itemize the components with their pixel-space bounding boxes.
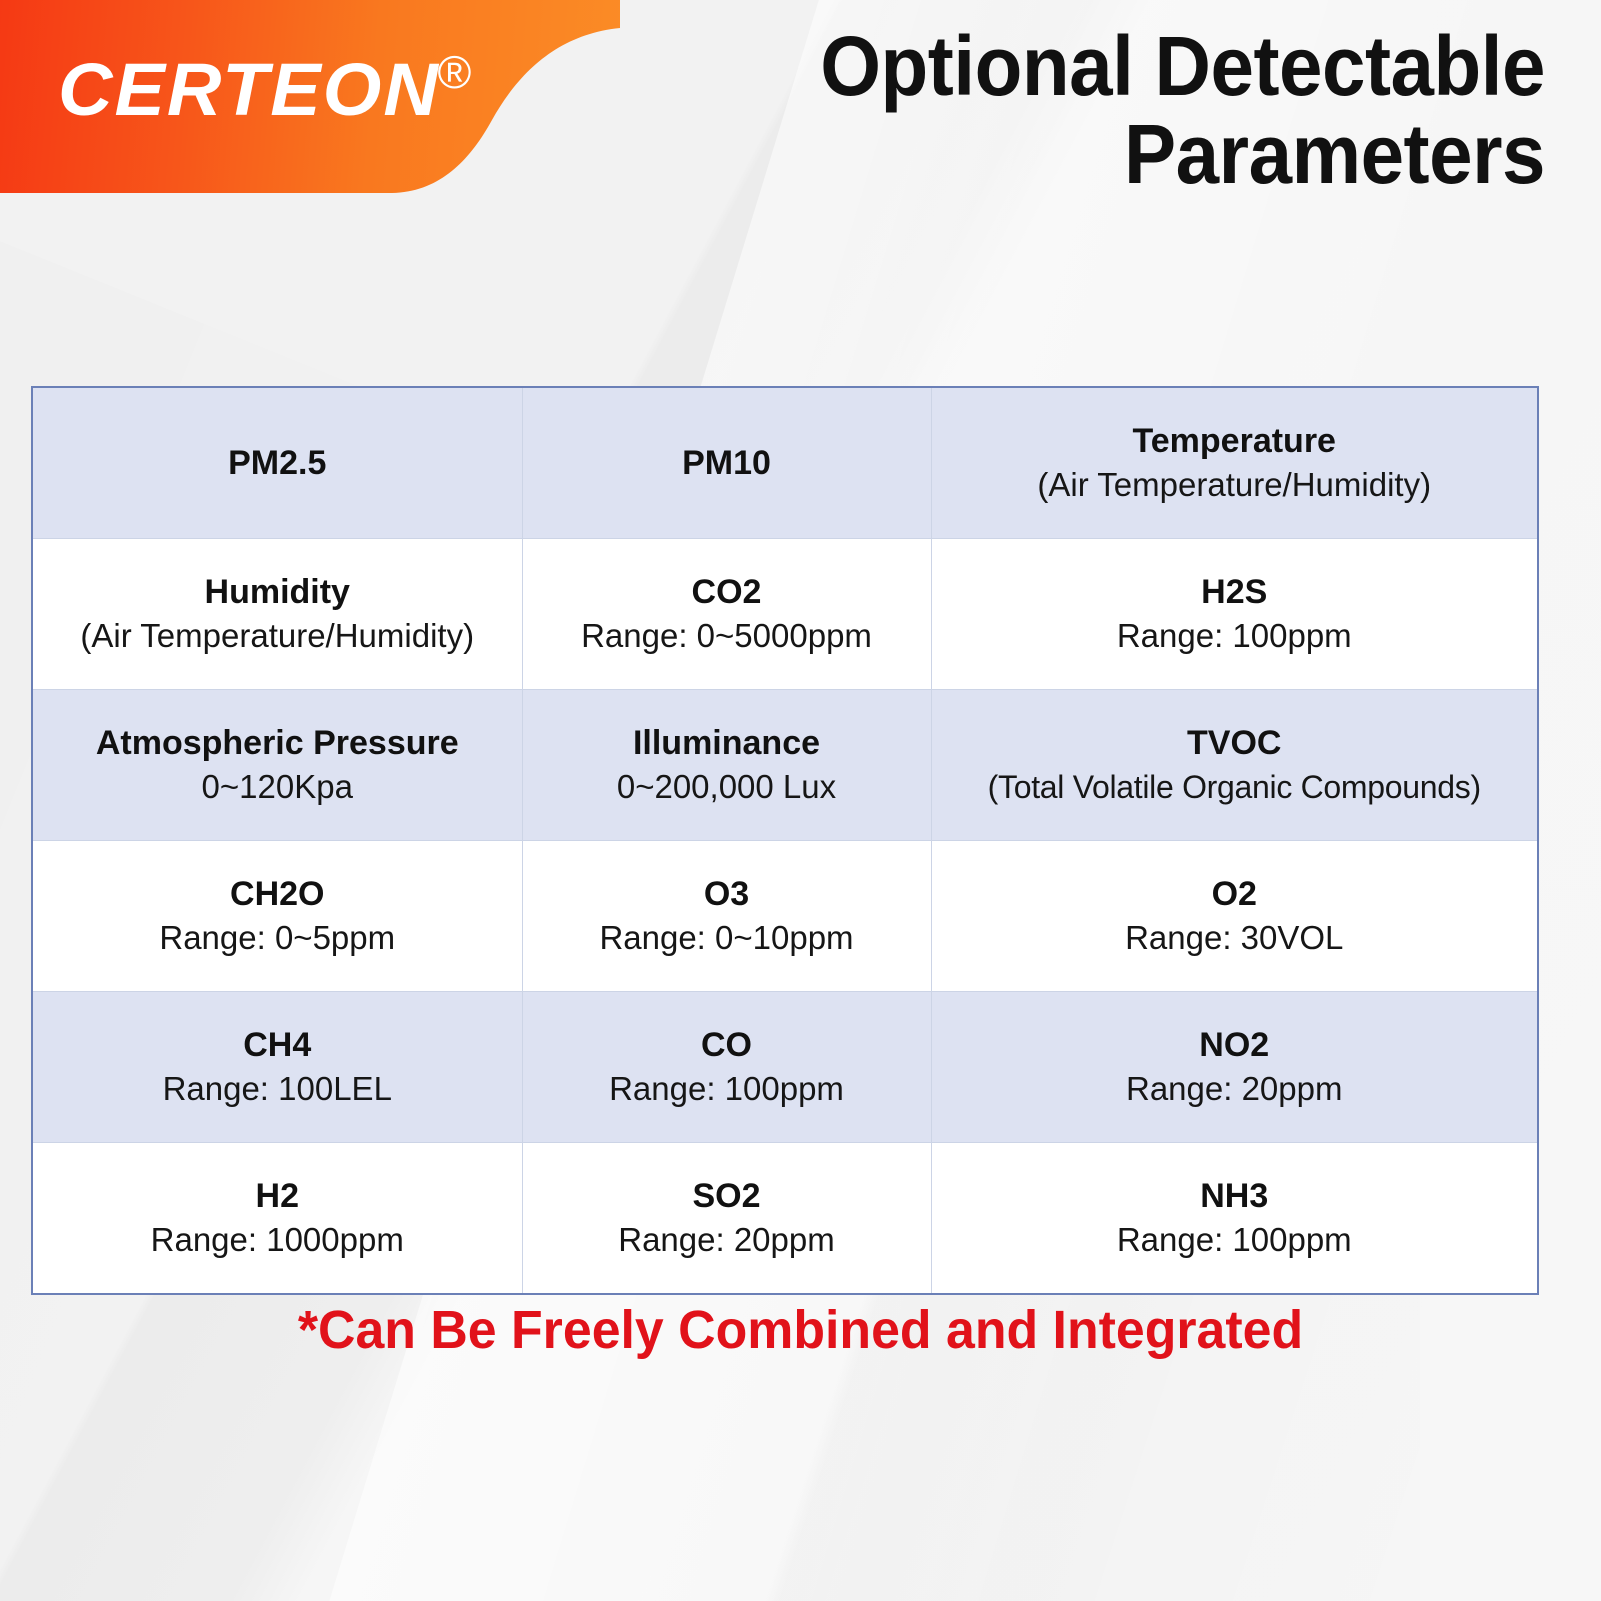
parameter-name: H2 (41, 1174, 514, 1218)
table-cell: Temperature (Air Temperature/Humidity) (931, 387, 1538, 539)
page-title-line-2: Parameters (615, 110, 1545, 198)
parameter-name: CO (531, 1023, 923, 1067)
page-title: Optional Detectable Parameters (545, 22, 1545, 198)
parameter-detail: Range: 100ppm (940, 614, 1530, 658)
parameter-detail: Range: 100ppm (531, 1067, 923, 1111)
parameter-detail: 0~120Kpa (41, 765, 514, 809)
table-cell: CO Range: 100ppm (522, 992, 931, 1143)
table-row: PM2.5 PM10 Temperature (Air Temperature/… (32, 387, 1538, 539)
parameter-detail: (Air Temperature/Humidity) (41, 614, 514, 658)
table-cell: NO2 Range: 20ppm (931, 992, 1538, 1143)
parameter-detail: Range: 20ppm (940, 1067, 1530, 1111)
brand-logo: CERTEON ® (58, 47, 471, 133)
parameter-detail: Range: 100ppm (940, 1218, 1530, 1262)
table-cell: H2 Range: 1000ppm (32, 1143, 522, 1295)
parameter-name: H2S (940, 570, 1530, 614)
parameter-detail: Range: 0~10ppm (531, 916, 923, 960)
detectable-parameters-table: PM2.5 PM10 Temperature (Air Temperature/… (31, 386, 1539, 1295)
parameter-name: CH2O (41, 872, 514, 916)
table-cell: Atmospheric Pressure 0~120Kpa (32, 690, 522, 841)
table-row: H2 Range: 1000ppm SO2 Range: 20ppm NH3 R… (32, 1143, 1538, 1295)
table-cell: TVOC (Total Volatile Organic Compounds) (931, 690, 1538, 841)
table-cell: O2 Range: 30VOL (931, 841, 1538, 992)
parameter-detail: Range: 30VOL (940, 916, 1530, 960)
parameter-name: O3 (531, 872, 923, 916)
parameter-name: SO2 (531, 1174, 923, 1218)
footnote-text: *Can Be Freely Combined and Integrated (32, 1300, 1569, 1360)
table-cell: Humidity (Air Temperature/Humidity) (32, 539, 522, 690)
parameter-detail: Range: 0~5ppm (41, 916, 514, 960)
parameter-name: Humidity (41, 570, 514, 614)
page-title-line-1: Optional Detectable (615, 22, 1545, 110)
parameter-name: Atmospheric Pressure (41, 721, 514, 765)
infographic-page: CERTEON ® Optional Detectable Parameters… (0, 0, 1601, 1601)
parameter-name: Temperature (940, 419, 1530, 463)
brand-logo-text: CERTEON (58, 47, 440, 133)
table-cell: CO2 Range: 0~5000ppm (522, 539, 931, 690)
table-row: CH2O Range: 0~5ppm O3 Range: 0~10ppm O2 … (32, 841, 1538, 992)
table-cell: NH3 Range: 100ppm (931, 1143, 1538, 1295)
registered-trademark-icon: ® (437, 49, 471, 95)
parameter-name: CH4 (41, 1023, 514, 1067)
table-cell: PM10 (522, 387, 931, 539)
parameter-name: CO2 (531, 570, 923, 614)
table-cell: PM2.5 (32, 387, 522, 539)
parameter-name: Illuminance (531, 721, 923, 765)
parameter-name: PM2.5 (41, 441, 514, 485)
parameter-name: TVOC (940, 721, 1530, 765)
table-row: CH4 Range: 100LEL CO Range: 100ppm NO2 R… (32, 992, 1538, 1143)
table-row: Atmospheric Pressure 0~120Kpa Illuminanc… (32, 690, 1538, 841)
parameter-detail: Range: 1000ppm (41, 1218, 514, 1262)
parameter-detail: Range: 20ppm (531, 1218, 923, 1262)
table-cell: O3 Range: 0~10ppm (522, 841, 931, 992)
parameter-name: NH3 (940, 1174, 1530, 1218)
table-cell: CH4 Range: 100LEL (32, 992, 522, 1143)
parameter-name: O2 (940, 872, 1530, 916)
parameter-detail: (Total Volatile Organic Compounds) (940, 765, 1530, 809)
table-cell: Illuminance 0~200,000 Lux (522, 690, 931, 841)
table-cell: SO2 Range: 20ppm (522, 1143, 931, 1295)
table-cell: H2S Range: 100ppm (931, 539, 1538, 690)
table-row: Humidity (Air Temperature/Humidity) CO2 … (32, 539, 1538, 690)
parameter-detail: Range: 0~5000ppm (531, 614, 923, 658)
parameter-name: PM10 (531, 441, 923, 485)
parameter-detail: 0~200,000 Lux (531, 765, 923, 809)
parameter-name: NO2 (940, 1023, 1530, 1067)
table-cell: CH2O Range: 0~5ppm (32, 841, 522, 992)
parameter-detail: Range: 100LEL (41, 1067, 514, 1111)
parameter-detail: (Air Temperature/Humidity) (940, 463, 1530, 507)
